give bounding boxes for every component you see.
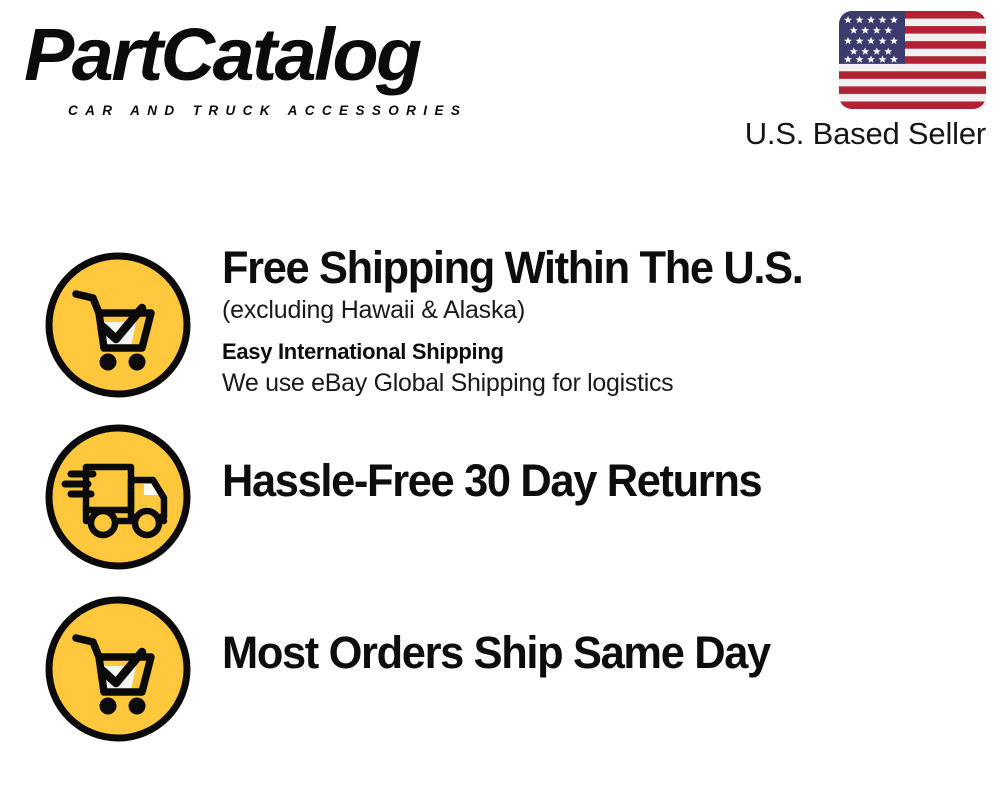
brand-logo: PartCatalog CAR AND TRUCK ACCESSORIES bbox=[24, 18, 504, 118]
us-based-seller-label: U.S. Based Seller bbox=[745, 116, 986, 152]
feature-row: Free Shipping Within The U.S. (excluding… bbox=[0, 240, 1000, 412]
page-header: PartCatalog CAR AND TRUCK ACCESSORIES bbox=[0, 0, 1000, 170]
feature-subheading: Easy International Shipping bbox=[222, 336, 980, 367]
delivery-truck-icon bbox=[43, 422, 193, 572]
feature-subnote: We use eBay Global Shipping for logistic… bbox=[222, 367, 980, 399]
brand-tagline: CAR AND TRUCK ACCESSORIES bbox=[68, 104, 467, 118]
feature-text-block: Most Orders Ship Same Day bbox=[222, 627, 980, 679]
feature-title: Most Orders Ship Same Day bbox=[222, 627, 953, 679]
feature-title: Hassle-Free 30 Day Returns bbox=[222, 455, 953, 507]
brand-wordmark: PartCatalog bbox=[24, 18, 420, 92]
feature-row: Most Orders Ship Same Day bbox=[0, 584, 1000, 756]
feature-text-block: Free Shipping Within The U.S. (excluding… bbox=[222, 242, 980, 399]
feature-title: Free Shipping Within The U.S. bbox=[222, 242, 953, 294]
feature-row: Hassle-Free 30 Day Returns bbox=[0, 412, 1000, 584]
shopping-cart-check-icon bbox=[43, 594, 193, 744]
feature-text-block: Hassle-Free 30 Day Returns bbox=[222, 455, 980, 507]
feature-subtitle: (excluding Hawaii & Alaska) bbox=[222, 294, 980, 327]
shopping-cart-check-icon bbox=[43, 250, 193, 400]
us-flag-icon bbox=[839, 11, 986, 109]
